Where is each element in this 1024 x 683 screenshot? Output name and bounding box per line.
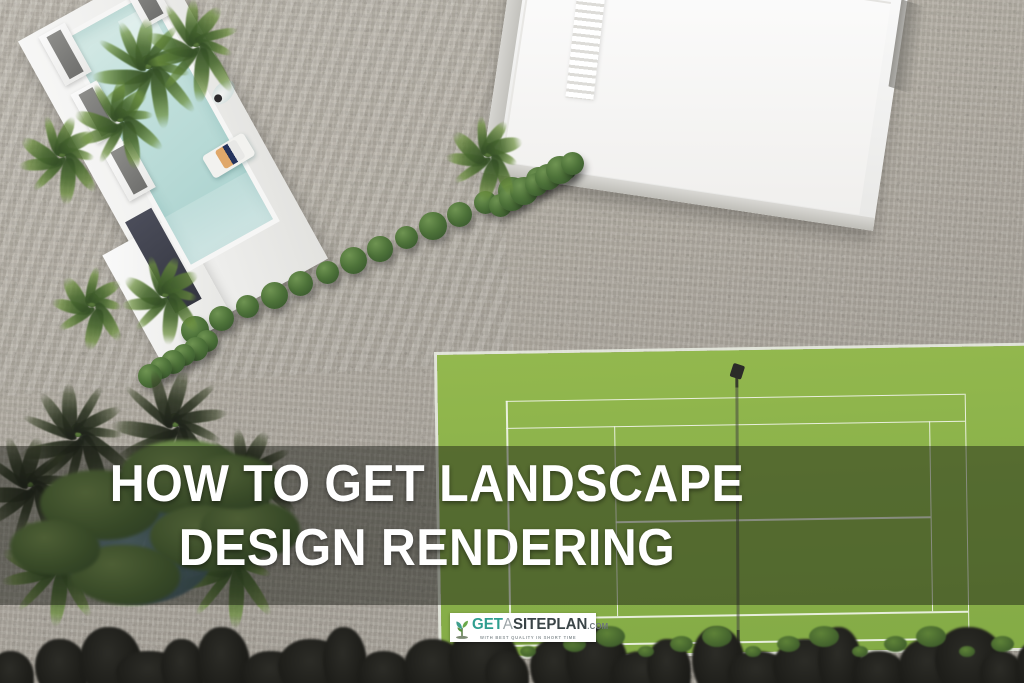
- leaf-plant-icon: [453, 616, 472, 639]
- title-overlay-band: [0, 446, 1024, 605]
- boundary-shrub: [670, 636, 693, 652]
- boundary-shrub: [638, 646, 654, 657]
- logo-tagline: WITH BEST QUALITY IN SHORT TIME: [480, 635, 576, 640]
- boundary-tree: [0, 651, 34, 683]
- boundary-shrub: [777, 636, 800, 652]
- boundary-shrub: [702, 626, 732, 647]
- hedge-bush: [561, 152, 584, 175]
- boundary-shrub: [852, 646, 868, 657]
- hedge-bush: [367, 236, 392, 261]
- boundary-shrub: [916, 626, 946, 647]
- hedge-bush: [447, 202, 472, 227]
- hedge-bush: [261, 282, 288, 309]
- boundary-shrub: [745, 646, 761, 657]
- hedge-bush: [209, 306, 234, 331]
- logo-word-a: A: [503, 616, 513, 633]
- hedge-bush: [316, 261, 339, 284]
- logo-word-site: SITE: [513, 616, 546, 633]
- brand-logo[interactable]: GETASITEPLAN.COM WITH BEST QUALITY IN SH…: [450, 613, 596, 642]
- boundary-shrub: [959, 646, 975, 657]
- boundary-shrub: [991, 636, 1014, 652]
- landscape-rendering-banner: HOW TO GET LANDSCAPE DESIGN RENDERING GE…: [0, 0, 1024, 683]
- hedge-bush: [419, 212, 446, 239]
- logo-word-get: GET: [472, 616, 503, 633]
- logo-main-text: GETASITEPLAN.COM: [472, 616, 588, 635]
- boundary-shrub: [809, 626, 839, 647]
- boundary-shrub: [520, 646, 536, 657]
- boundary-tree: [1016, 639, 1024, 683]
- logo-word-com: .COM: [587, 622, 608, 631]
- logo-wordmark: GETASITEPLAN.COM WITH BEST QUALITY IN SH…: [472, 615, 592, 640]
- boundary-shrub: [884, 636, 907, 652]
- hedge-bush: [395, 226, 418, 249]
- logo-word-plan: PLAN: [546, 616, 587, 633]
